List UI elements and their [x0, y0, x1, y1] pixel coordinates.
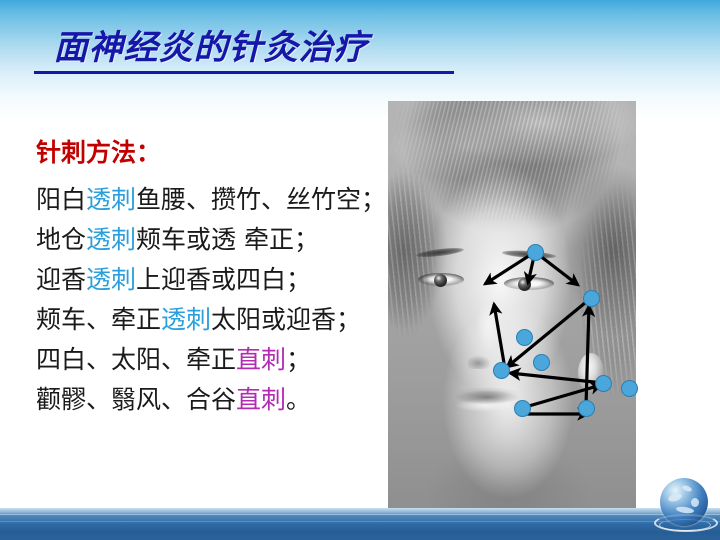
- treatment-line-segment: 直刺: [236, 345, 286, 374]
- globe-icon: [660, 478, 714, 532]
- treatment-line: 地仓透刺颊车或透 牵正；: [36, 220, 386, 260]
- treatment-line-segment: 上迎香或四白；: [136, 265, 311, 294]
- earring: [578, 353, 604, 393]
- treatment-line: 颊车、牵正透刺太阳或迎香；: [36, 300, 386, 340]
- treatment-line-segment: 。: [286, 385, 311, 414]
- treatment-line-segment: 颧髎、翳风、合谷: [36, 385, 236, 414]
- treatment-line-segment: 迎香: [36, 265, 86, 294]
- water-ripple-line: [0, 514, 720, 515]
- treatment-line-segment: 地仓: [36, 225, 86, 254]
- slide-title-block: 面神经炎的针灸治疗: [28, 26, 468, 74]
- lips: [444, 387, 530, 417]
- treatment-line-segment: ；: [286, 345, 311, 374]
- treatment-line-segment: 鱼腰、攒竹、丝竹空；: [136, 185, 386, 214]
- treatment-line-segment: 直刺: [236, 385, 286, 414]
- treatment-line: 迎香透刺上迎香或四白；: [36, 260, 386, 300]
- globe-landmass: [681, 484, 692, 492]
- patient-face-photo: [388, 101, 636, 508]
- treatment-line: 颧髎、翳风、合谷直刺。: [36, 380, 386, 420]
- treatment-line-segment: 太阳或迎香；: [211, 305, 361, 334]
- nose: [468, 297, 502, 369]
- treatment-line-segment: 阳白: [36, 185, 86, 214]
- section-heading: 针刺方法：: [36, 136, 386, 170]
- globe-landmass: [667, 492, 682, 503]
- presentation-slide: 面神经炎的针灸治疗 针刺方法： 阳白透刺鱼腰、攒竹、丝竹空；地仓透刺颊车或透 牵…: [0, 0, 720, 540]
- globe-landmass: [691, 498, 699, 507]
- pupil-right: [518, 278, 531, 291]
- water-ripple-line: [0, 521, 720, 522]
- treatment-method-list: 阳白透刺鱼腰、攒竹、丝竹空；地仓透刺颊车或透 牵正；迎香透刺上迎香或四白；颊车、…: [36, 180, 386, 420]
- treatment-line-segment: 颊车或透 牵正；: [136, 225, 319, 254]
- treatment-line-segment: 颊车、牵正: [36, 305, 161, 334]
- globe-ripple-ring: [659, 519, 711, 531]
- treatment-line-segment: 透刺: [86, 225, 136, 254]
- treatment-line-segment: 透刺: [161, 305, 211, 334]
- content-text-column: 针刺方法： 阳白透刺鱼腰、攒竹、丝竹空；地仓透刺颊车或透 牵正；迎香透刺上迎香或…: [36, 136, 386, 420]
- pupil-left: [434, 274, 447, 287]
- treatment-line-segment: 四白、太阳、牵正: [36, 345, 236, 374]
- globe-landmass: [676, 506, 695, 514]
- treatment-line: 阳白透刺鱼腰、攒竹、丝竹空；: [36, 180, 386, 220]
- treatment-line-segment: 透刺: [86, 265, 136, 294]
- treatment-line-segment: 透刺: [86, 185, 136, 214]
- footer-water-band: [0, 508, 720, 540]
- treatment-line: 四白、太阳、牵正直刺；: [36, 340, 386, 380]
- title-underline: [34, 71, 454, 74]
- page-title: 面神经炎的针灸治疗: [28, 26, 468, 70]
